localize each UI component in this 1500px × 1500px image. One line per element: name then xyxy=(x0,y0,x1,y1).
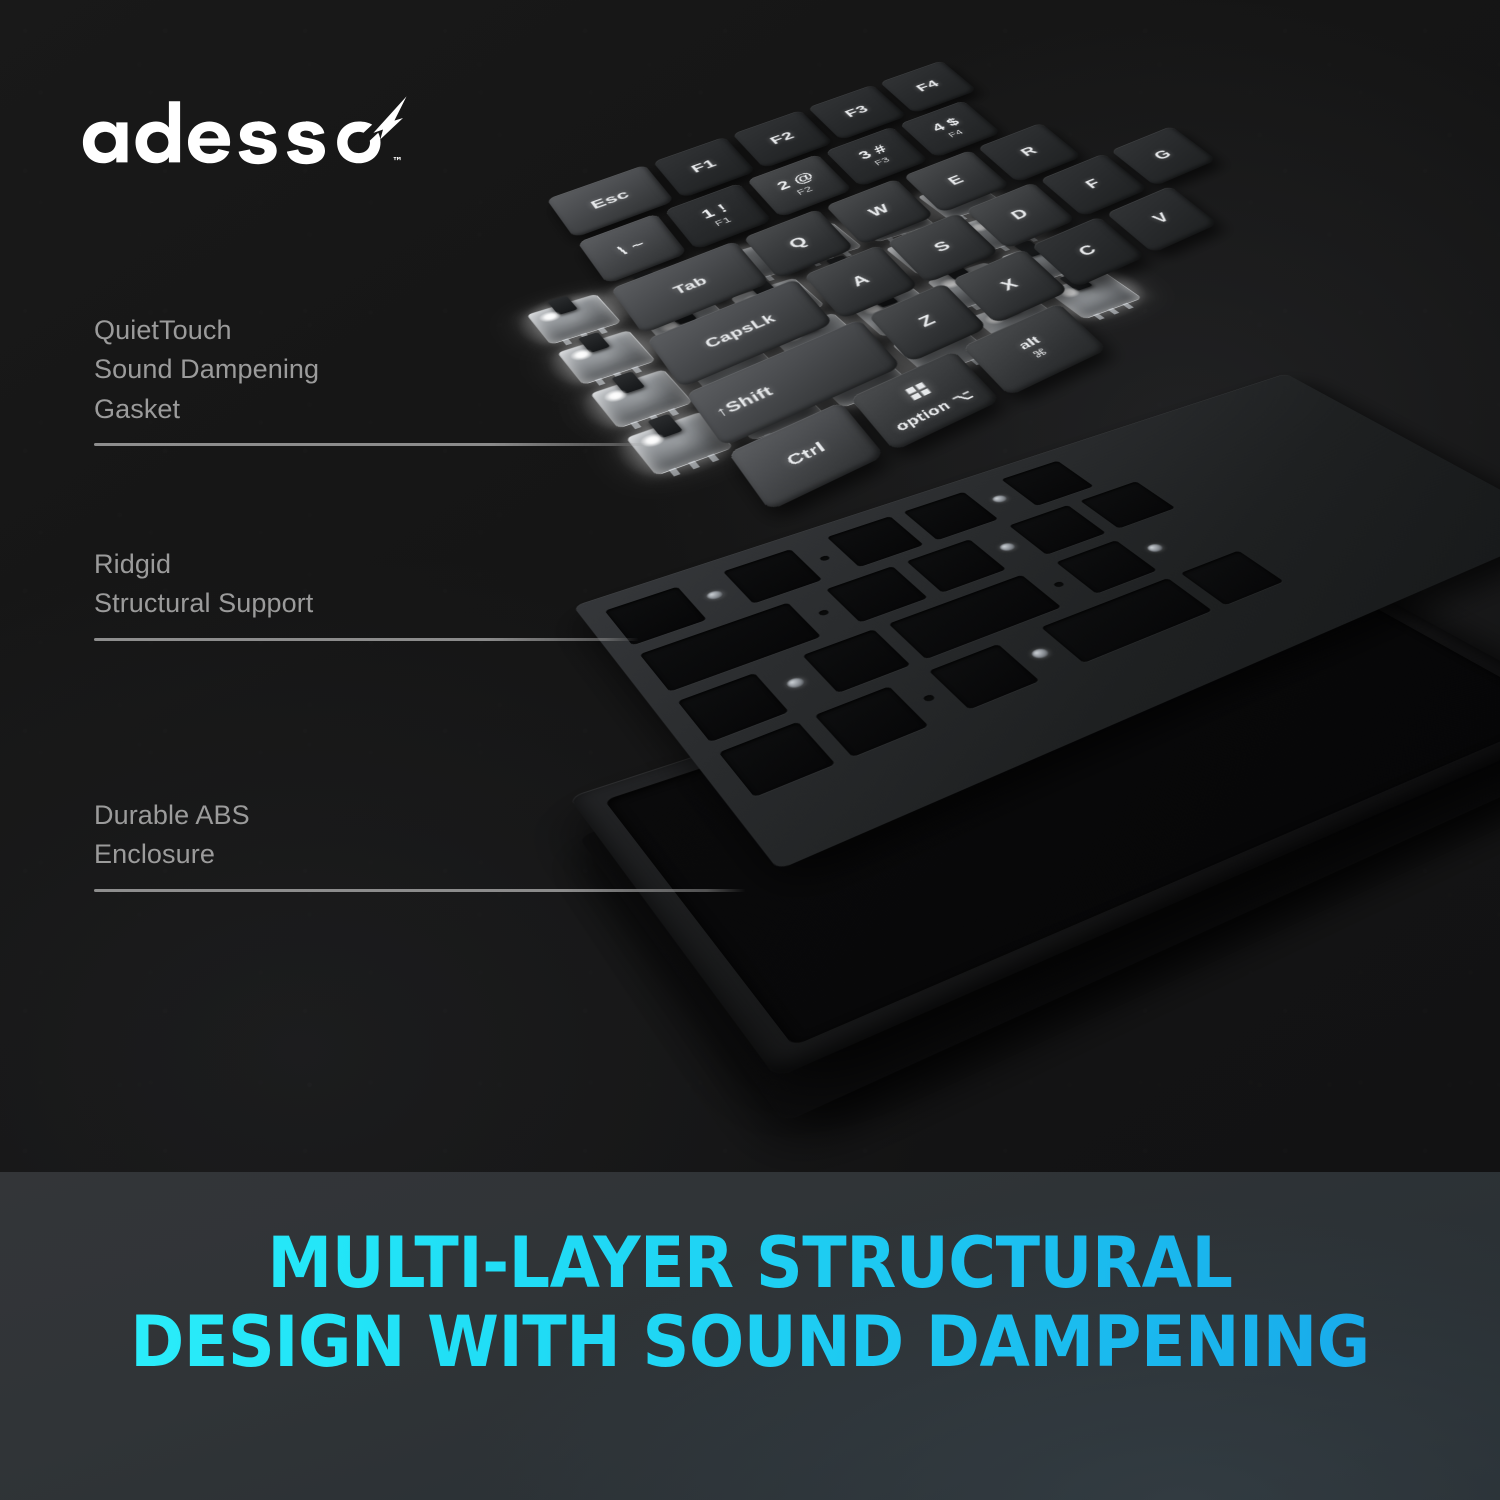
keycap-legend: X xyxy=(967,264,1052,308)
command-glyph-icon: ⌘ xyxy=(993,330,1088,379)
keycap-legend: 1 !F1 xyxy=(673,193,764,239)
keycap-legend: Z xyxy=(883,299,972,345)
callout-label: QuietTouch Sound Dampening Gasket xyxy=(94,311,646,429)
keycap-legend: A xyxy=(817,260,904,303)
headline: MULTI-LAYER STRUCTURAL DESIGN WITH SOUND… xyxy=(53,1224,1448,1382)
adesso-logo: ™ xyxy=(70,95,410,181)
keycap-legend: Q xyxy=(756,223,841,264)
windows-logo-icon xyxy=(905,382,931,400)
keycap-legend: F3 xyxy=(819,96,894,128)
leader-line xyxy=(94,638,639,641)
keycap-legend: F4 xyxy=(892,71,964,102)
callout-enclosure: Durable ABS Enclosure xyxy=(94,796,746,892)
callout-gasket: QuietTouch Sound Dampening Gasket xyxy=(94,311,646,446)
keycap-legend: F2 xyxy=(743,122,821,156)
keycap-legend: \ ~ xyxy=(588,228,676,269)
keycap-legend: S xyxy=(901,227,984,268)
callout-label: Ridgid Structural Support xyxy=(94,545,639,624)
keycap-grid: Esc F1 F2 F3 F4 \ ~ 1 !F1 2 @F2 3 #F3 4 … xyxy=(546,27,1334,518)
hero-section: Esc F1 F2 F3 F4 \ ~ 1 !F1 2 @F2 3 #F3 4 … xyxy=(0,0,1500,1172)
keycap-legend: R xyxy=(992,135,1067,170)
keycap-layer: Esc F1 F2 F3 F4 \ ~ 1 !F1 2 @F2 3 #F3 4 … xyxy=(560,0,1500,530)
keyboard-exploded-view: Esc F1 F2 F3 F4 \ ~ 1 !F1 2 @F2 3 #F3 4 … xyxy=(560,0,1500,1172)
keycap-legend: G xyxy=(1126,138,1200,173)
callout-label: Durable ABS Enclosure xyxy=(94,796,746,875)
keycap-legend: F1 xyxy=(663,149,744,185)
keycap-legend: F xyxy=(1055,166,1132,203)
keycap-legend: E xyxy=(917,163,995,200)
keycap-legend: 4 $F4 xyxy=(909,109,991,149)
keycap-legend: option ⌥ xyxy=(877,381,992,442)
caption-band: MULTI-LAYER STRUCTURAL DESIGN WITH SOUND… xyxy=(0,1172,1500,1500)
keycap-legend: 3 #F3 xyxy=(834,135,919,177)
keycap-legend: Ctrl xyxy=(744,422,868,488)
keycap-legend: alt⌘ xyxy=(976,316,1093,381)
product-marketing-image: Esc F1 F2 F3 F4 \ ~ 1 !F1 2 @F2 3 #F3 4 … xyxy=(0,0,1500,1500)
leader-line xyxy=(94,889,746,892)
callout-structural-support: Ridgid Structural Support xyxy=(94,545,639,641)
keycap-legend: 2 @F2 xyxy=(755,163,843,207)
keycap-legend: V xyxy=(1123,199,1201,238)
keycap-legend: C xyxy=(1047,231,1128,272)
trademark-text: ™ xyxy=(392,155,403,168)
keycap-legend: D xyxy=(980,196,1060,235)
keycap-legend: W xyxy=(839,192,921,231)
leader-line xyxy=(94,443,646,446)
